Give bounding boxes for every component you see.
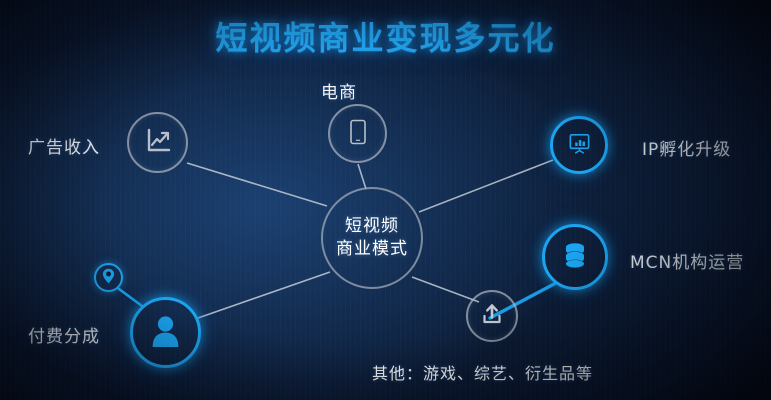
link-center-paid-share bbox=[198, 272, 330, 318]
node-ad-revenue[interactable] bbox=[127, 112, 188, 173]
database-stack-icon bbox=[562, 241, 588, 273]
center-hub-node[interactable]: 短视频 商业模式 bbox=[321, 187, 423, 289]
center-hub-line2: 商业模式 bbox=[336, 238, 408, 261]
link-pin-paid-share bbox=[119, 289, 142, 306]
upload-tray-icon bbox=[480, 302, 504, 330]
infographic-canvas: 短视频商业变现多元化 短视频 商业模式 电商 bbox=[0, 0, 771, 400]
trending-chart-icon bbox=[143, 126, 173, 160]
label-mcn-operation: MCN机构运营 bbox=[630, 248, 744, 273]
label-ip-incubation: IP孵化升级 bbox=[642, 135, 731, 160]
node-paid-share[interactable] bbox=[130, 297, 201, 368]
label-others: 其他：游戏、综艺、衍生品等 bbox=[372, 360, 593, 384]
node-ip-incubation[interactable] bbox=[550, 116, 608, 174]
location-pin-icon bbox=[102, 268, 115, 288]
link-center-ip bbox=[419, 160, 553, 212]
link-center-ecommerce bbox=[358, 164, 366, 189]
location-pin-node[interactable] bbox=[94, 263, 123, 292]
node-ecommerce[interactable] bbox=[328, 104, 387, 163]
label-ad-revenue: 广告收入 bbox=[28, 133, 100, 158]
center-hub-line1: 短视频 bbox=[345, 215, 399, 238]
label-paid-share: 付费分成 bbox=[28, 322, 100, 347]
label-ecommerce: 电商 bbox=[321, 78, 357, 103]
presentation-chart-icon bbox=[567, 131, 592, 160]
node-others[interactable] bbox=[466, 290, 518, 342]
node-mcn-operation[interactable] bbox=[542, 224, 608, 290]
user-person-icon bbox=[149, 313, 182, 353]
link-center-ad-revenue bbox=[187, 163, 327, 206]
mobile-phone-icon bbox=[348, 119, 368, 149]
link-center-others bbox=[412, 277, 479, 302]
